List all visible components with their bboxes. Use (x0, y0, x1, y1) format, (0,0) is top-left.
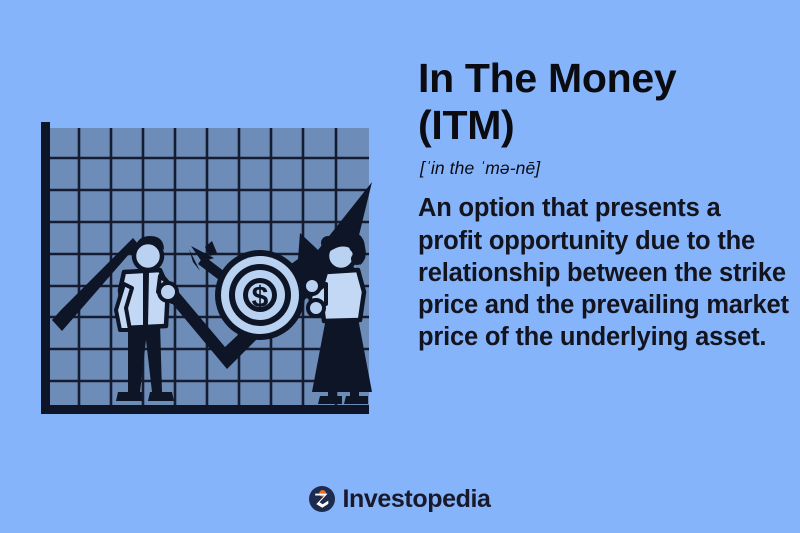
definition-card: $ (0, 0, 800, 533)
definition-text: An option that presents a profit opportu… (418, 192, 790, 353)
pronunciation-text: [ˈin the ˈmə-nē] (420, 158, 790, 179)
brand-logo: Investopedia (0, 486, 800, 512)
definition-text-column: In The Money (ITM) [ˈin the ˈmə-nē] An o… (418, 55, 790, 353)
dollar-sign-glyph: $ (252, 281, 269, 314)
brand-wordmark: Investopedia (342, 487, 490, 512)
page-title: In The Money (ITM) (418, 55, 790, 148)
illustration-stock-chart: $ (0, 0, 400, 470)
bullseye-target-icon: $ (215, 250, 305, 340)
investopedia-logo-mark-icon (309, 486, 335, 512)
